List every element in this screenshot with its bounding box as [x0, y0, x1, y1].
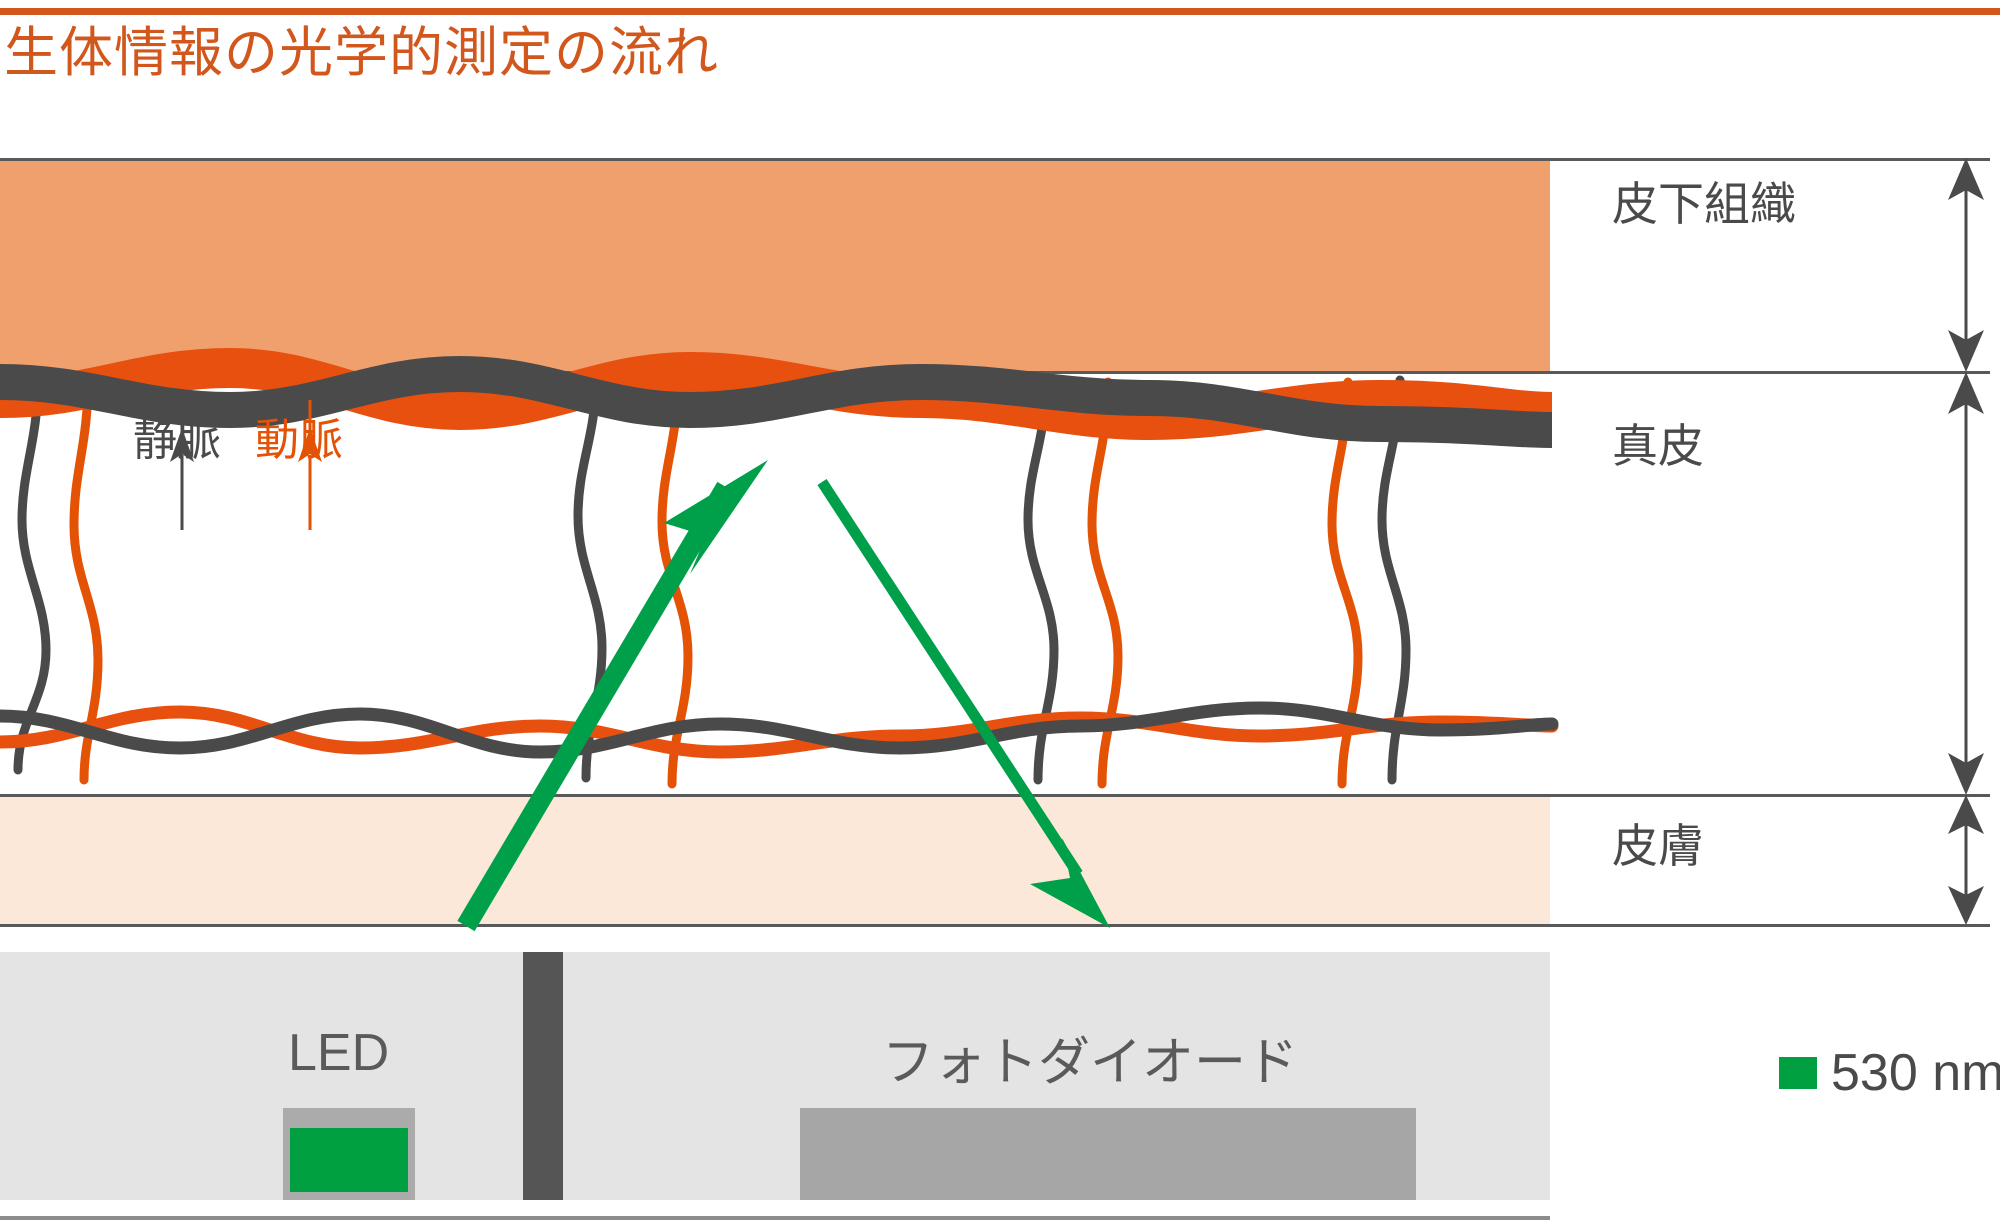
diagram-canvas: 生体情報の光学的測定の流れ — [0, 0, 2000, 1226]
device-label-photodiode: フォトダイオード — [882, 1020, 1298, 1095]
legend-label: 530 nm — [1831, 1047, 2000, 1099]
legend: 530 nm — [1779, 1047, 2000, 1099]
dimension-arrow-subcutaneous — [1948, 158, 1984, 372]
layer-block-skin — [0, 795, 1550, 925]
layer-label-skin: 皮膚 — [1612, 810, 1704, 876]
device-label-led: LED — [288, 1023, 389, 1083]
photodiode-sensor — [800, 1108, 1416, 1200]
layer-label-dermis: 真皮 — [1612, 410, 1704, 476]
led-emitter — [290, 1128, 408, 1192]
dimension-arrow-skin — [1948, 795, 1984, 925]
layer-block-subcutaneous — [0, 161, 1550, 372]
dimension-arrow-dermis — [1948, 372, 1984, 795]
layer-label-subcutaneous: 皮下組織 — [1612, 168, 1796, 234]
vessel-label-vein: 静脈 — [133, 404, 221, 468]
vessel-label-artery: 動脈 — [255, 404, 343, 468]
legend-swatch-icon — [1779, 1057, 1817, 1089]
optical-barrier — [523, 952, 563, 1200]
